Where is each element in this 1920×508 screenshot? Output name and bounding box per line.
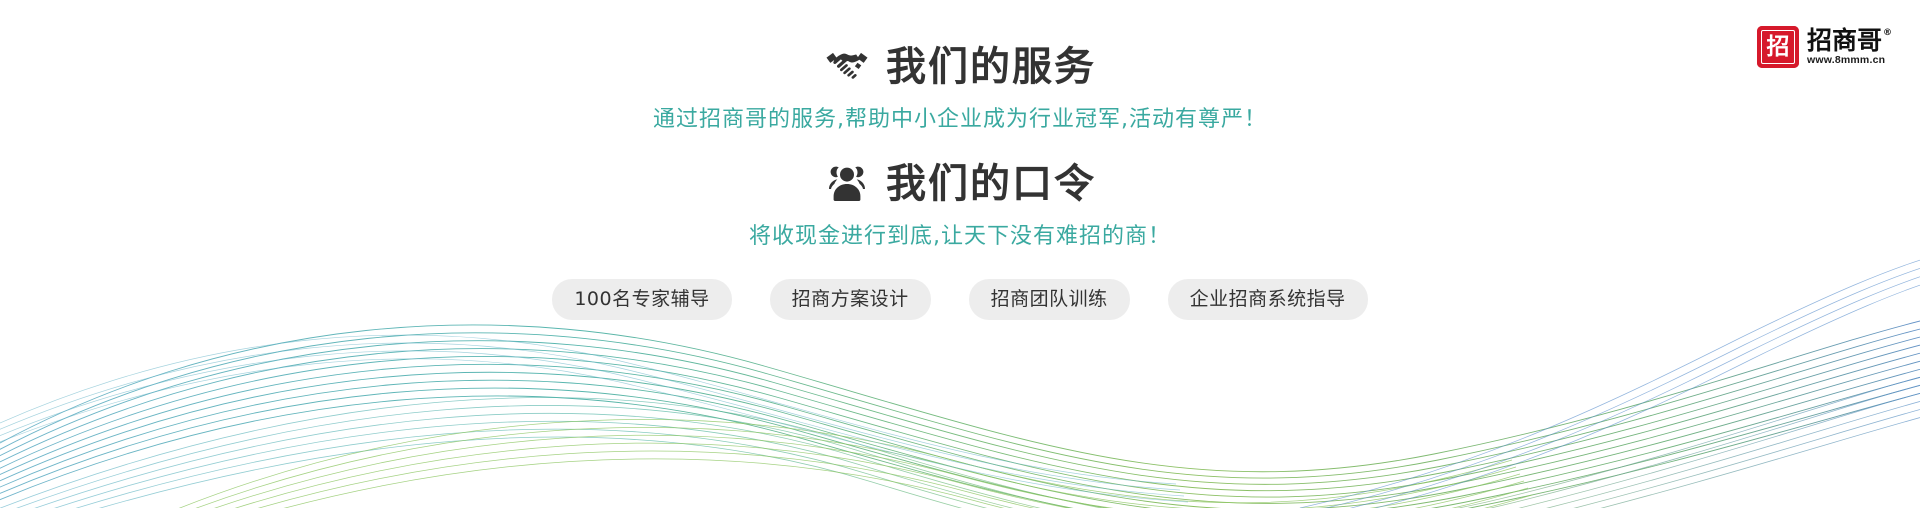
- service-banner: 招 招商哥 ® www.8mmm.cn: [0, 0, 1920, 508]
- handshake-icon: [824, 44, 870, 90]
- users-icon: [824, 161, 870, 207]
- section-heading-label: 我们的口令: [886, 161, 1096, 207]
- logo-text-block: 招商哥 ® www.8mmm.cn: [1807, 28, 1892, 66]
- logo-wordmark: 招商哥 ®: [1807, 28, 1892, 54]
- banner-content: 我们的服务 通过招商哥的服务,帮助中小企业成为行业冠军,活动有尊严！ 我们的口令: [0, 0, 1920, 320]
- brand-logo[interactable]: 招 招商哥 ® www.8mmm.cn: [1757, 26, 1892, 68]
- section-subtitle-service: 通过招商哥的服务,帮助中小企业成为行业冠军,活动有尊严！: [653, 106, 1267, 135]
- service-tag-pill[interactable]: 招商方案设计: [770, 279, 931, 320]
- logo-mark-icon: 招: [1757, 26, 1799, 68]
- logo-url: www.8mmm.cn: [1807, 55, 1892, 66]
- section-heading-service: 我们的服务: [824, 44, 1096, 90]
- section-heading-label: 我们的服务: [886, 44, 1096, 90]
- registered-trademark-icon: ®: [1883, 29, 1892, 38]
- section-subtitle-motto: 将收现金进行到底,让天下没有难招的商！: [749, 223, 1171, 252]
- service-tag-row: 100名专家辅导 招商方案设计 招商团队训练 企业招商系统指导: [552, 279, 1367, 320]
- service-tag-pill[interactable]: 企业招商系统指导: [1168, 279, 1368, 320]
- service-tag-pill[interactable]: 招商团队训练: [969, 279, 1130, 320]
- service-tag-pill[interactable]: 100名专家辅导: [552, 279, 731, 320]
- section-heading-motto: 我们的口令: [824, 161, 1096, 207]
- logo-wordmark-text: 招商哥: [1807, 28, 1882, 54]
- logo-mark-char: 招: [1766, 36, 1789, 59]
